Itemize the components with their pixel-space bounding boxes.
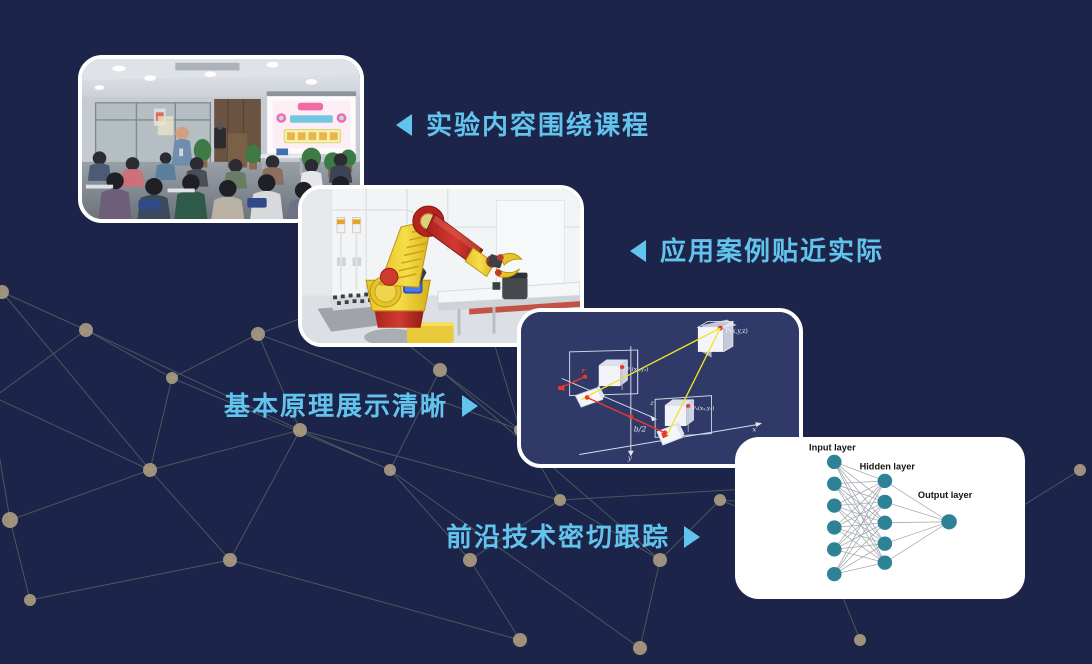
caption-label-3: 基本原理展示清晰 [224,393,448,419]
slide-root: y x z [0,0,1092,664]
input-layer-label: Input layer [809,443,856,453]
card-neural-network-diagram[interactable]: Input layer Hidden layer Output layer [735,437,1025,599]
caption-label-2: 应用案例贴近实际 [660,238,884,264]
neural-network-illustration: Input layer Hidden layer Output layer [739,441,1021,595]
baseline-label: b/2 [634,425,647,434]
point-P2-label: P₂(x₂,y₂) [692,405,714,412]
caption-row-3: 基本原理展示清晰 [224,393,478,419]
caption-label-1: 实验内容围绕课程 [426,112,650,138]
caption-row-1: 实验内容围绕课程 [396,112,650,138]
point-P-label: P(x,y,z) [725,328,748,335]
triangle-right-icon [684,526,700,548]
caption-row-2: 应用案例贴近实际 [630,238,884,264]
caption-label-4: 前沿技术密切跟踪 [446,524,670,550]
output-layer-label: Output layer [918,490,973,500]
hidden-layer-label: Hidden layer [860,462,916,472]
triangle-right-icon [462,395,478,417]
axis-z-label: z [649,399,654,407]
axis-x-label: x [752,426,756,434]
triangle-left-icon [630,240,646,262]
triangle-left-icon [396,114,412,136]
caption-row-4: 前沿技术密切跟踪 [446,524,700,550]
